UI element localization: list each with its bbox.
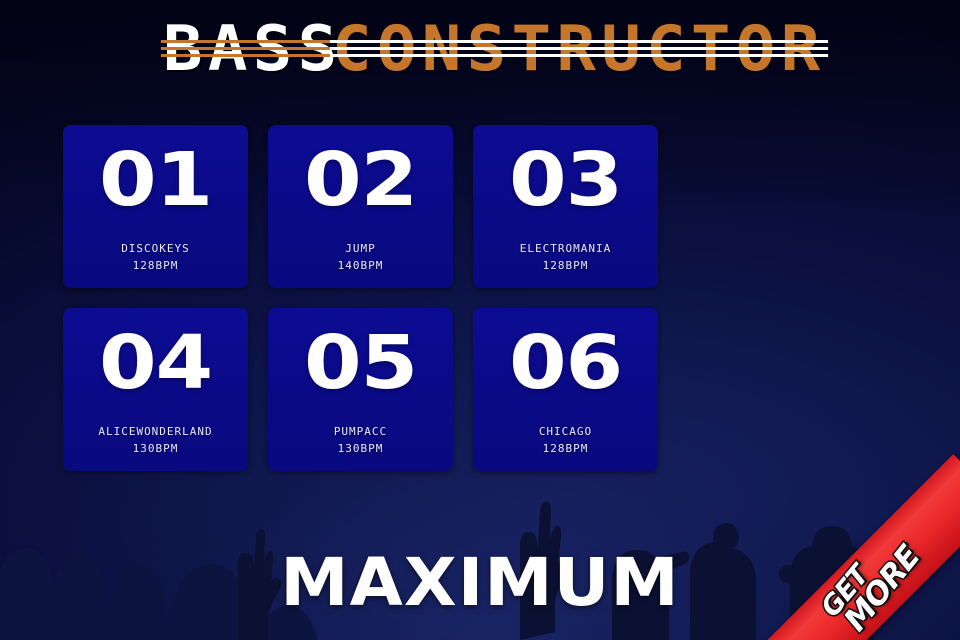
preset-grid: 01 DISCOKEYS 128BPM 02 JUMP 140BPM 03 EL… (63, 125, 658, 471)
tile-name: PUMPACC (268, 423, 453, 440)
tile-number: 03 (509, 143, 622, 217)
tile-name: ALICEWONDERLAND (63, 423, 248, 440)
tile-meta: ELECTROMANIA 128BPM (473, 240, 658, 274)
preset-tile-03[interactable]: 03 ELECTROMANIA 128BPM (473, 125, 658, 288)
tile-bpm: 130BPM (268, 440, 453, 457)
tile-name: DISCOKEYS (63, 240, 248, 257)
app-screen: BASS CONSTRUCTOR 01 DISCOKEYS 128BPM 02 … (0, 0, 960, 640)
ribbon-label: GET MORE (812, 523, 932, 640)
tile-meta: PUMPACC 130BPM (268, 423, 453, 457)
tile-meta: DISCOKEYS 128BPM (63, 240, 248, 274)
tile-bpm: 128BPM (63, 257, 248, 274)
preset-tile-01[interactable]: 01 DISCOKEYS 128BPM (63, 125, 248, 288)
tile-number: 04 (99, 326, 212, 400)
logo-word-constructor: CONSTRUCTOR (332, 18, 826, 80)
tile-name: JUMP (268, 240, 453, 257)
tile-meta: ALICEWONDERLAND 130BPM (63, 423, 248, 457)
tile-meta: CHICAGO 128BPM (473, 423, 658, 457)
tile-bpm: 140BPM (268, 257, 453, 274)
tile-name: CHICAGO (473, 423, 658, 440)
app-logo: BASS CONSTRUCTOR (0, 18, 960, 80)
tile-number: 05 (304, 326, 417, 400)
logo-constructor-text: CONSTRUCTOR (332, 12, 826, 85)
preset-tile-05[interactable]: 05 PUMPACC 130BPM (268, 308, 453, 471)
tile-meta: JUMP 140BPM (268, 240, 453, 274)
tile-bpm: 128BPM (473, 257, 658, 274)
logo-bass-text: BASS (163, 12, 342, 85)
tile-bpm: 128BPM (473, 440, 658, 457)
tile-number: 01 (99, 143, 212, 217)
tile-number: 06 (509, 326, 622, 400)
logo-word-bass: BASS (163, 18, 342, 80)
tile-name: ELECTROMANIA (473, 240, 658, 257)
preset-tile-04[interactable]: 04 ALICEWONDERLAND 130BPM (63, 308, 248, 471)
tile-bpm: 130BPM (63, 440, 248, 457)
tile-number: 02 (304, 143, 417, 217)
preset-tile-06[interactable]: 06 CHICAGO 128BPM (473, 308, 658, 471)
preset-tile-02[interactable]: 02 JUMP 140BPM (268, 125, 453, 288)
